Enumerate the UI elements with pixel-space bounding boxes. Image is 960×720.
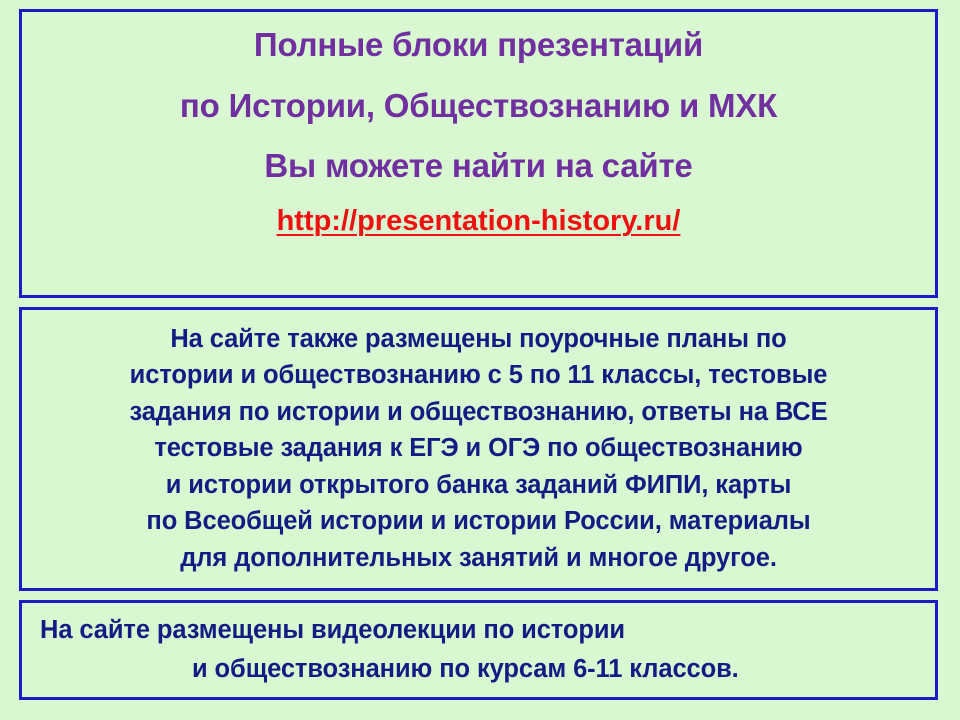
description-line-2: истории и обществознанию с 5 по 11 класс… (130, 363, 828, 389)
description-line-5: и истории открытого банка заданий ФИПИ, … (166, 473, 792, 499)
description-line-6: по Всеобщей истории и истории России, ма… (146, 509, 810, 535)
website-url-link[interactable]: http://presentation-history.ru/ (277, 207, 681, 236)
title-text-box: Полные блоки презентаций по Истории, Общ… (19, 9, 938, 298)
description-text-box: На сайте также размещены поурочные планы… (19, 307, 938, 591)
description-line-3: задания по истории и обществознанию, отв… (129, 400, 827, 426)
video-lectures-line-2: и обществознанию по курсам 6-11 классов. (40, 657, 739, 683)
title-line-3: Вы можете найти на сайте (264, 149, 692, 182)
description-line-7: для дополнительных занятий и многое друг… (180, 546, 777, 572)
description-line-1: На сайте также размещены поурочные планы… (170, 327, 786, 353)
slide-canvas: Полные блоки презентаций по Истории, Общ… (0, 0, 960, 720)
description-line-4: тестовые задания к ЕГЭ и ОГЭ по общество… (154, 436, 802, 462)
video-lectures-text-box: На сайте размещены видеолекции по истори… (19, 600, 938, 700)
title-line-2: по Истории, Обществознанию и МХК (180, 89, 777, 122)
video-lectures-line-1: На сайте размещены видеолекции по истори… (40, 618, 625, 644)
title-line-1: Полные блоки презентаций (254, 28, 703, 61)
